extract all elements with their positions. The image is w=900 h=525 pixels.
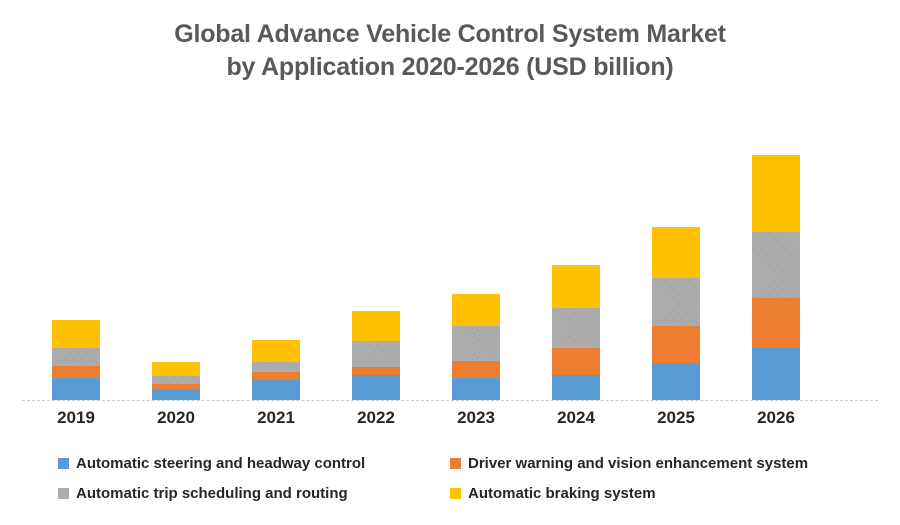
segment-driver-warning[interactable]: [52, 366, 100, 378]
chart-title-line-1: Global Advance Vehicle Control System Ma…: [0, 18, 900, 51]
bar-group-2019[interactable]: [52, 320, 100, 400]
segment-driver-warning[interactable]: [652, 326, 700, 363]
segment-steering-headway[interactable]: [652, 363, 700, 400]
bar-group-2025[interactable]: [652, 227, 700, 400]
legend-swatch-icon: [58, 458, 69, 469]
segment-braking[interactable]: [652, 227, 700, 278]
bars-layer: [0, 100, 900, 400]
legend-label: Automatic trip scheduling and routing: [76, 484, 348, 503]
segment-driver-warning[interactable]: [752, 298, 800, 348]
chart-title: Global Advance Vehicle Control System Ma…: [0, 18, 900, 84]
segment-trip-scheduling[interactable]: [152, 376, 200, 384]
segment-driver-warning[interactable]: [452, 361, 500, 378]
bar-group-2026[interactable]: [752, 155, 800, 400]
legend-label: Automatic braking system: [468, 484, 656, 503]
segment-braking[interactable]: [452, 294, 500, 326]
bar-group-2022[interactable]: [352, 311, 400, 400]
segment-steering-headway[interactable]: [152, 390, 200, 400]
legend-item-1[interactable]: Driver warning and vision enhancement sy…: [450, 454, 808, 473]
legend-swatch-icon: [450, 488, 461, 499]
legend-label: Driver warning and vision enhancement sy…: [468, 454, 808, 473]
segment-braking[interactable]: [552, 265, 600, 308]
chart-title-line-2: by Application 2020-2026 (USD billion): [0, 51, 900, 84]
bar-group-2023[interactable]: [452, 294, 500, 400]
segment-driver-warning[interactable]: [252, 372, 300, 380]
x-axis-label-2021: 2021: [231, 406, 321, 430]
segment-braking[interactable]: [252, 340, 300, 362]
segment-trip-scheduling[interactable]: [252, 362, 300, 372]
plot-area: [0, 100, 900, 402]
bar-group-2020[interactable]: [152, 362, 200, 400]
segment-driver-warning[interactable]: [352, 367, 400, 375]
segment-trip-scheduling[interactable]: [652, 278, 700, 326]
segment-steering-headway[interactable]: [352, 375, 400, 400]
segment-steering-headway[interactable]: [552, 375, 600, 400]
x-axis-label-2025: 2025: [631, 406, 721, 430]
chart-container: Global Advance Vehicle Control System Ma…: [0, 0, 900, 525]
legend-item-3[interactable]: Automatic braking system: [450, 484, 656, 503]
x-axis-label-2022: 2022: [331, 406, 421, 430]
x-axis-label-2026: 2026: [731, 406, 821, 430]
segment-braking[interactable]: [52, 320, 100, 348]
segment-braking[interactable]: [152, 362, 200, 376]
segment-trip-scheduling[interactable]: [352, 341, 400, 367]
bar-group-2021[interactable]: [252, 340, 300, 400]
x-axis-line: [22, 400, 878, 401]
segment-trip-scheduling[interactable]: [52, 348, 100, 366]
segment-steering-headway[interactable]: [452, 378, 500, 400]
legend-swatch-icon: [58, 488, 69, 499]
segment-driver-warning[interactable]: [552, 348, 600, 375]
legend-item-2[interactable]: Automatic trip scheduling and routing: [58, 484, 348, 503]
chart-legend: Automatic steering and headway controlDr…: [0, 448, 900, 514]
segment-braking[interactable]: [352, 311, 400, 341]
segment-steering-headway[interactable]: [52, 378, 100, 400]
x-axis-label-2020: 2020: [131, 406, 221, 430]
x-axis-label-2023: 2023: [431, 406, 521, 430]
segment-trip-scheduling[interactable]: [752, 232, 800, 298]
segment-trip-scheduling[interactable]: [452, 326, 500, 361]
bar-group-2024[interactable]: [552, 265, 600, 400]
x-axis-labels: 20192020202120222023202420252026: [0, 406, 900, 436]
segment-trip-scheduling[interactable]: [552, 308, 600, 348]
legend-item-0[interactable]: Automatic steering and headway control: [58, 454, 365, 473]
segment-steering-headway[interactable]: [752, 348, 800, 400]
legend-label: Automatic steering and headway control: [76, 454, 365, 473]
segment-braking[interactable]: [752, 155, 800, 232]
x-axis-label-2024: 2024: [531, 406, 621, 430]
legend-swatch-icon: [450, 458, 461, 469]
segment-steering-headway[interactable]: [252, 380, 300, 400]
x-axis-label-2019: 2019: [31, 406, 121, 430]
